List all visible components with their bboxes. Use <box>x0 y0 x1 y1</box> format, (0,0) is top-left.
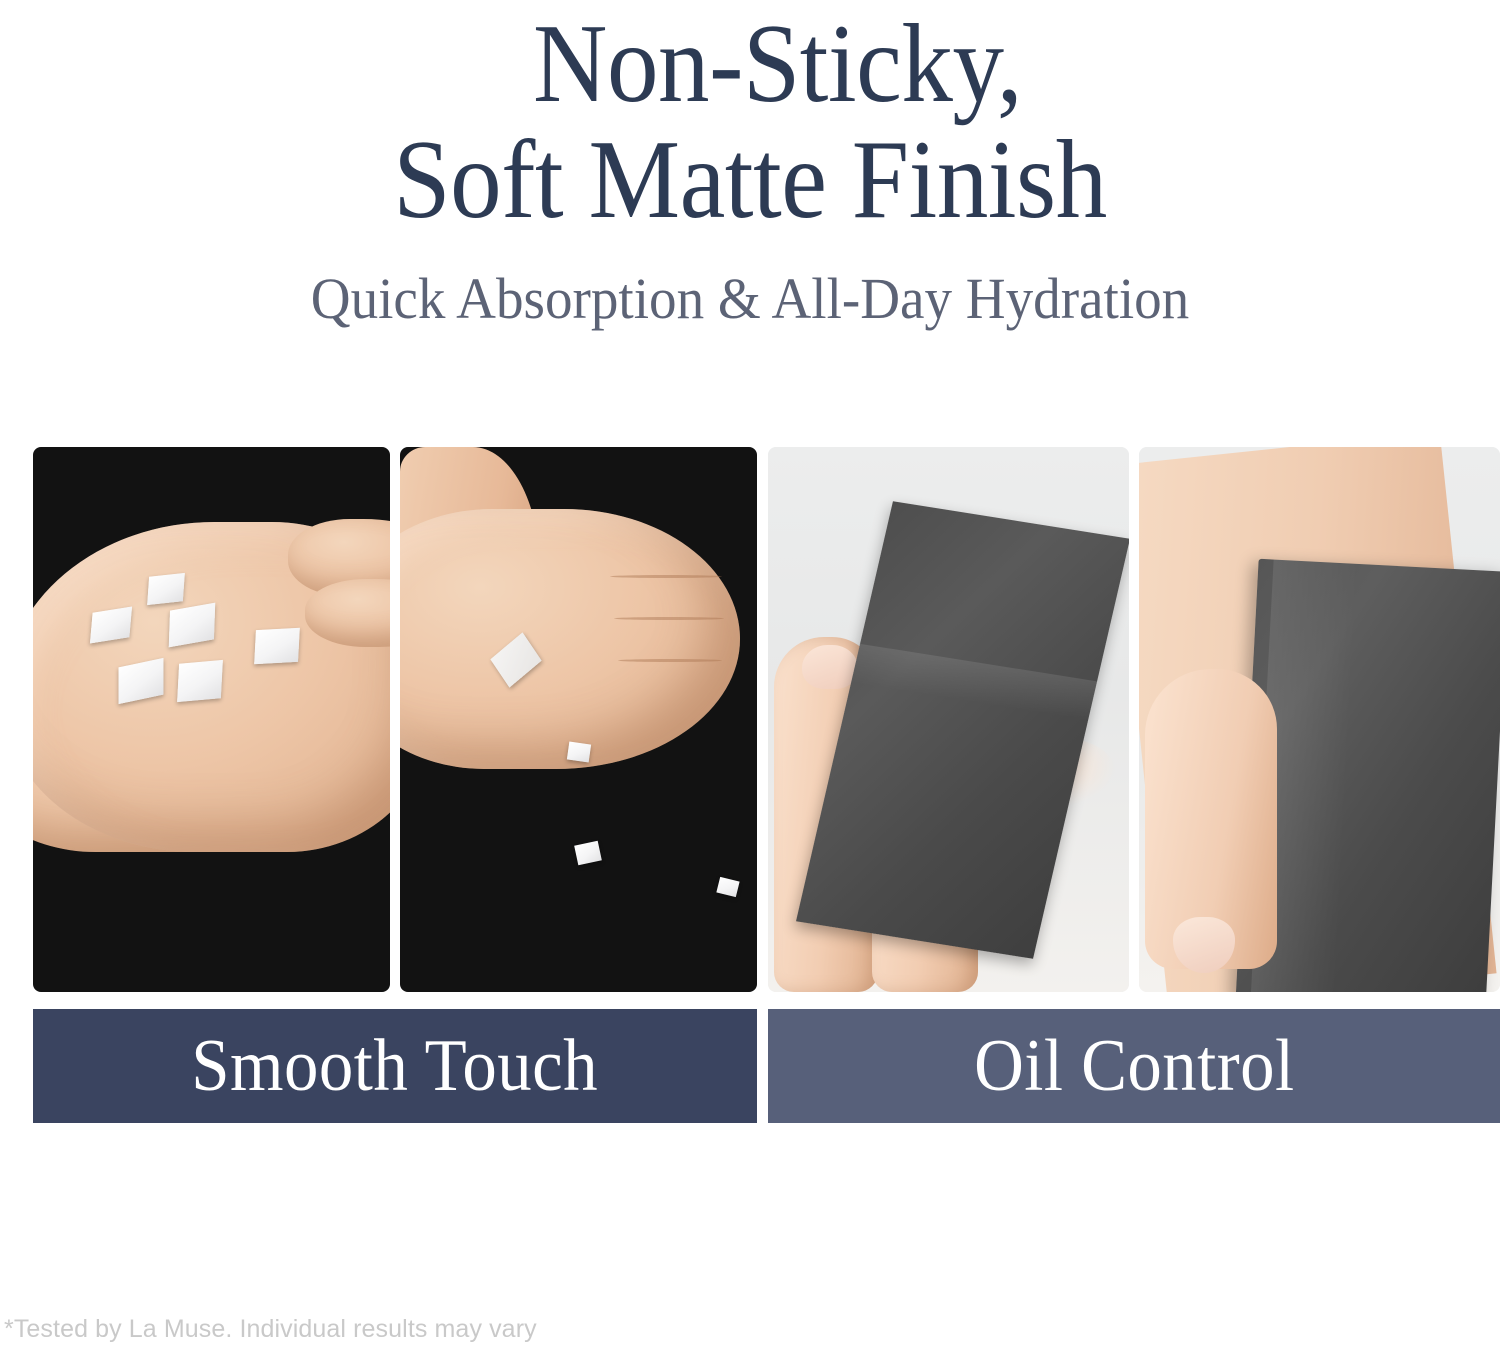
paper-square-falling <box>574 841 602 866</box>
knuckle-line <box>610 575 722 578</box>
knuckle-line <box>618 659 722 662</box>
caption-bar-oil-control: Oil Control <box>768 1009 1500 1123</box>
caption-label-smooth-touch: Smooth Touch <box>192 1027 599 1105</box>
right-arrow-icon <box>1058 1137 1214 1223</box>
caption-bar-smooth-touch: Smooth Touch <box>33 1009 757 1123</box>
comparison-group-oil-control <box>768 447 1500 992</box>
fingernail-shape <box>802 645 858 689</box>
comparison-group-smooth-touch <box>33 447 757 992</box>
paper-square-falling <box>567 742 591 763</box>
photo-oil-control-after <box>1139 447 1500 992</box>
paper-square <box>177 660 223 702</box>
disclaimer-footnote: *Tested by La Muse. Individual results m… <box>4 1314 537 1344</box>
knuckle-line <box>614 617 724 620</box>
paper-square-falling <box>716 877 739 897</box>
page-subtitle: Quick Absorption & All-Day Hydration <box>38 266 1463 332</box>
photo-smooth-touch-after <box>400 447 757 992</box>
photo-smooth-touch-before <box>33 447 390 992</box>
caption-label-oil-control: Oil Control <box>974 1027 1295 1105</box>
photo-oil-control-before <box>768 447 1129 992</box>
page-title-line-2: Soft Matte Finish <box>60 122 1440 238</box>
page-title: Non-Sticky, Soft Matte Finish <box>0 6 1500 238</box>
paper-square <box>147 573 185 605</box>
page-title-line-1: Non-Sticky, <box>60 6 1440 122</box>
paper-square <box>254 628 300 664</box>
comparison-panels <box>0 447 1500 992</box>
product-feature-graphic: Non-Sticky, Soft Matte Finish Quick Abso… <box>0 0 1500 1353</box>
right-arrow-icon <box>322 1137 478 1223</box>
fist-shape <box>400 509 740 769</box>
